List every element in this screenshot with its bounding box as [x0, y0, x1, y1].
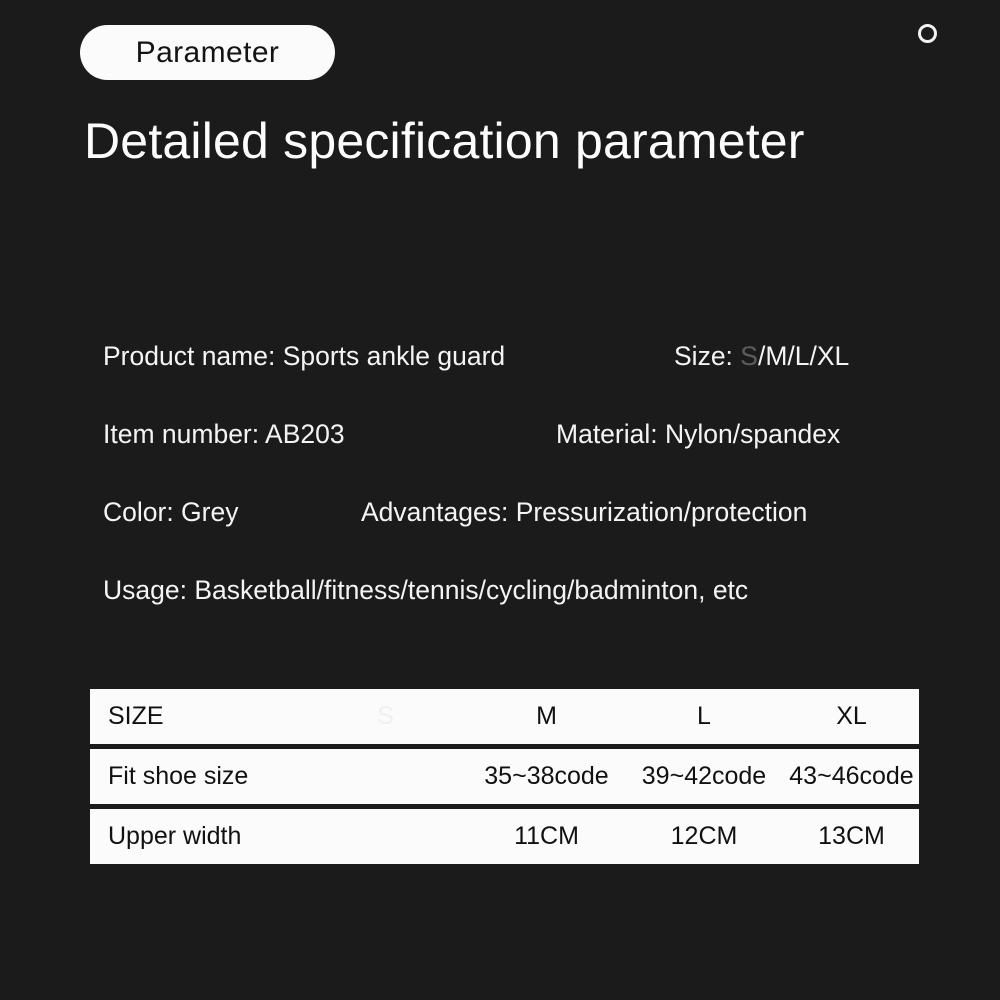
parameter-badge: Parameter	[80, 25, 335, 80]
table-cell-xl: 43~46code	[784, 762, 919, 791]
table-cell-m: 35~38code	[469, 762, 624, 791]
table-row: Upper width 11CM 12CM 13CM	[90, 809, 919, 864]
spec-size-value-faded: S	[740, 341, 758, 371]
spec-size-label: Size:	[674, 341, 733, 371]
table-header-row: SIZE S M L XL	[90, 689, 919, 744]
spec-size-value-rest: /M/L/XL	[758, 341, 849, 371]
spec-color: Color: Grey	[103, 497, 238, 528]
spec-row-color: Color: Grey Advantages: Pressurization/p…	[103, 497, 933, 531]
spec-size: Size: S/M/L/XL	[674, 341, 849, 372]
spec-usage: Usage: Basketball/fitness/tennis/cycling…	[103, 575, 748, 606]
table-header-xl: XL	[784, 702, 919, 731]
table-cell-m: 11CM	[469, 822, 624, 851]
table-header-s: S	[302, 702, 469, 731]
spec-advantages: Advantages: Pressurization/protection	[361, 497, 807, 528]
parameter-badge-label: Parameter	[136, 36, 280, 70]
table-row: Fit shoe size 35~38code 39~42code 43~46c…	[90, 749, 919, 804]
table-header-size: SIZE	[90, 702, 302, 731]
table-cell-label: Fit shoe size	[90, 762, 302, 791]
spec-row-product-name: Product name: Sports ankle guard Size: S…	[103, 341, 933, 375]
table-cell-xl: 13CM	[784, 822, 919, 851]
table-header-l: L	[624, 702, 784, 731]
panel-content: Parameter Detailed specification paramet…	[0, 0, 1000, 1000]
spec-material: Material: Nylon/spandex	[556, 419, 840, 450]
table-cell-l: 39~42code	[624, 762, 784, 791]
spec-row-usage: Usage: Basketball/fitness/tennis/cycling…	[103, 575, 933, 609]
size-table: SIZE S M L XL Fit shoe size 35~38code 39…	[90, 689, 919, 864]
spec-row-item-number: Item number: AB203 Material: Nylon/spand…	[103, 419, 933, 453]
page-title: Detailed specification parameter	[84, 112, 805, 170]
ring-icon	[918, 24, 937, 43]
table-header-m: M	[469, 702, 624, 731]
spec-product-name: Product name: Sports ankle guard	[103, 341, 505, 372]
table-cell-l: 12CM	[624, 822, 784, 851]
table-cell-label: Upper width	[90, 822, 302, 851]
product-detail-panel: Parameter Detailed specification paramet…	[0, 0, 1000, 1000]
spec-item-number: Item number: AB203	[103, 419, 345, 450]
